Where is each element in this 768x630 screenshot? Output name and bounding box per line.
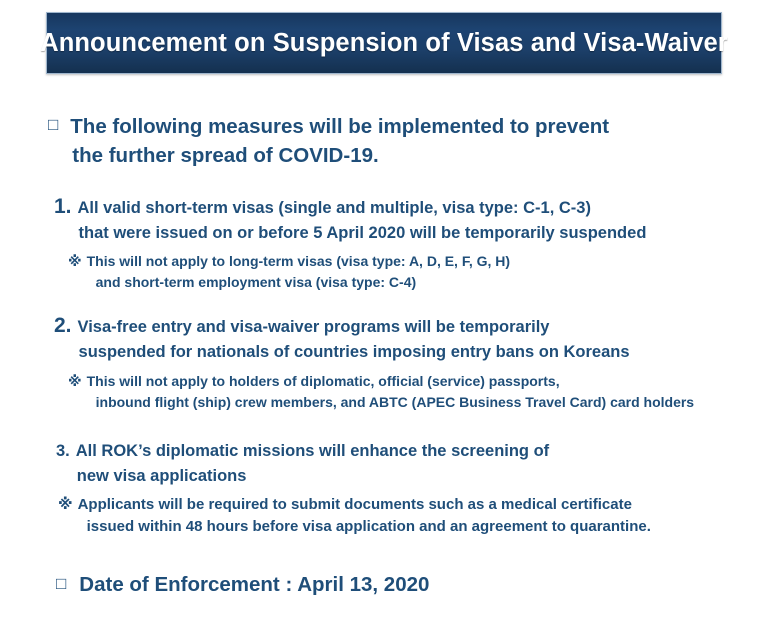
measure-3-line-1: All ROK’s diplomatic missions will enhan… [76, 442, 549, 460]
measure-3-note-line-2: issued within 48 hours before visa appli… [87, 516, 651, 539]
square-bullet-icon: □ [56, 573, 66, 596]
measure-1-note-line-2: and short-term employment visa (visa typ… [96, 272, 510, 293]
measure-3-note-line-1: Applicants will be required to submit do… [78, 496, 632, 513]
measure-3-note-text: Applicants will be required to submit do… [78, 494, 651, 539]
measure-2-note-line-2: inbound flight (ship) crew members, and … [96, 392, 694, 413]
measure-2-note-line-1: This will not apply to holders of diplom… [87, 373, 560, 389]
measure-3-number: 3. [56, 439, 70, 464]
title-bar: Announcement on Suspension of Visas and … [46, 12, 722, 74]
measure-1-text: All valid short-term visas (single and m… [78, 196, 647, 246]
measure-1-line-2: that were issued on or before 5 April 20… [79, 221, 647, 246]
intro-statement: □ The following measures will be impleme… [48, 112, 768, 170]
square-bullet-icon: □ [48, 112, 58, 138]
intro-line-1: The following measures will be implement… [70, 115, 609, 138]
enforcement-date-text: Date of Enforcement : April 13, 2020 [79, 571, 429, 599]
measure-2-text: Visa-free entry and visa-waiver programs… [78, 315, 630, 365]
measure-3-line-2: new visa applications [77, 464, 549, 489]
enforcement-date-statement: □ Date of Enforcement : April 13, 2020 [56, 571, 768, 599]
measure-3-text: All ROK’s diplomatic missions will enhan… [76, 439, 549, 489]
reference-mark-icon: ※ [68, 251, 82, 272]
slide-content: □ The following measures will be impleme… [0, 86, 768, 598]
reference-mark-icon: ※ [58, 494, 73, 517]
measure-3-note: ※ Applicants will be required to submit … [58, 494, 768, 539]
measure-item: 1. All valid short-term visas (single an… [54, 194, 768, 293]
page-title: Announcement on Suspension of Visas and … [40, 29, 728, 58]
measure-2-line-1: Visa-free entry and visa-waiver programs… [78, 318, 550, 336]
reference-mark-icon: ※ [68, 371, 82, 392]
measure-3-heading: 3. All ROK’s diplomatic missions will en… [56, 439, 768, 489]
measure-1-note-text: This will not apply to long-term visas (… [87, 251, 510, 293]
measure-2-note: ※ This will not apply to holders of dipl… [68, 371, 768, 413]
measure-2-note-text: This will not apply to holders of diplom… [87, 371, 694, 413]
measure-item: 2. Visa-free entry and visa-waiver progr… [54, 313, 768, 412]
measure-2-number: 2. [54, 313, 72, 338]
intro-line-2: the further spread of COVID-19. [72, 141, 609, 170]
measure-1-note-line-1: This will not apply to long-term visas (… [87, 253, 510, 269]
measure-2-line-2: suspended for nationals of countries imp… [79, 340, 630, 365]
measure-1-heading: 1. All valid short-term visas (single an… [54, 194, 768, 246]
announcement-slide: Announcement on Suspension of Visas and … [0, 0, 768, 630]
measure-1-line-1: All valid short-term visas (single and m… [78, 199, 591, 217]
measure-2-heading: 2. Visa-free entry and visa-waiver progr… [54, 313, 768, 365]
measure-1-note: ※ This will not apply to long-term visas… [68, 251, 768, 293]
intro-text: The following measures will be implement… [70, 112, 609, 170]
measure-1-number: 1. [54, 194, 72, 219]
measures-list: 1. All valid short-term visas (single an… [0, 194, 768, 538]
measure-item: 3. All ROK’s diplomatic missions will en… [56, 439, 768, 539]
